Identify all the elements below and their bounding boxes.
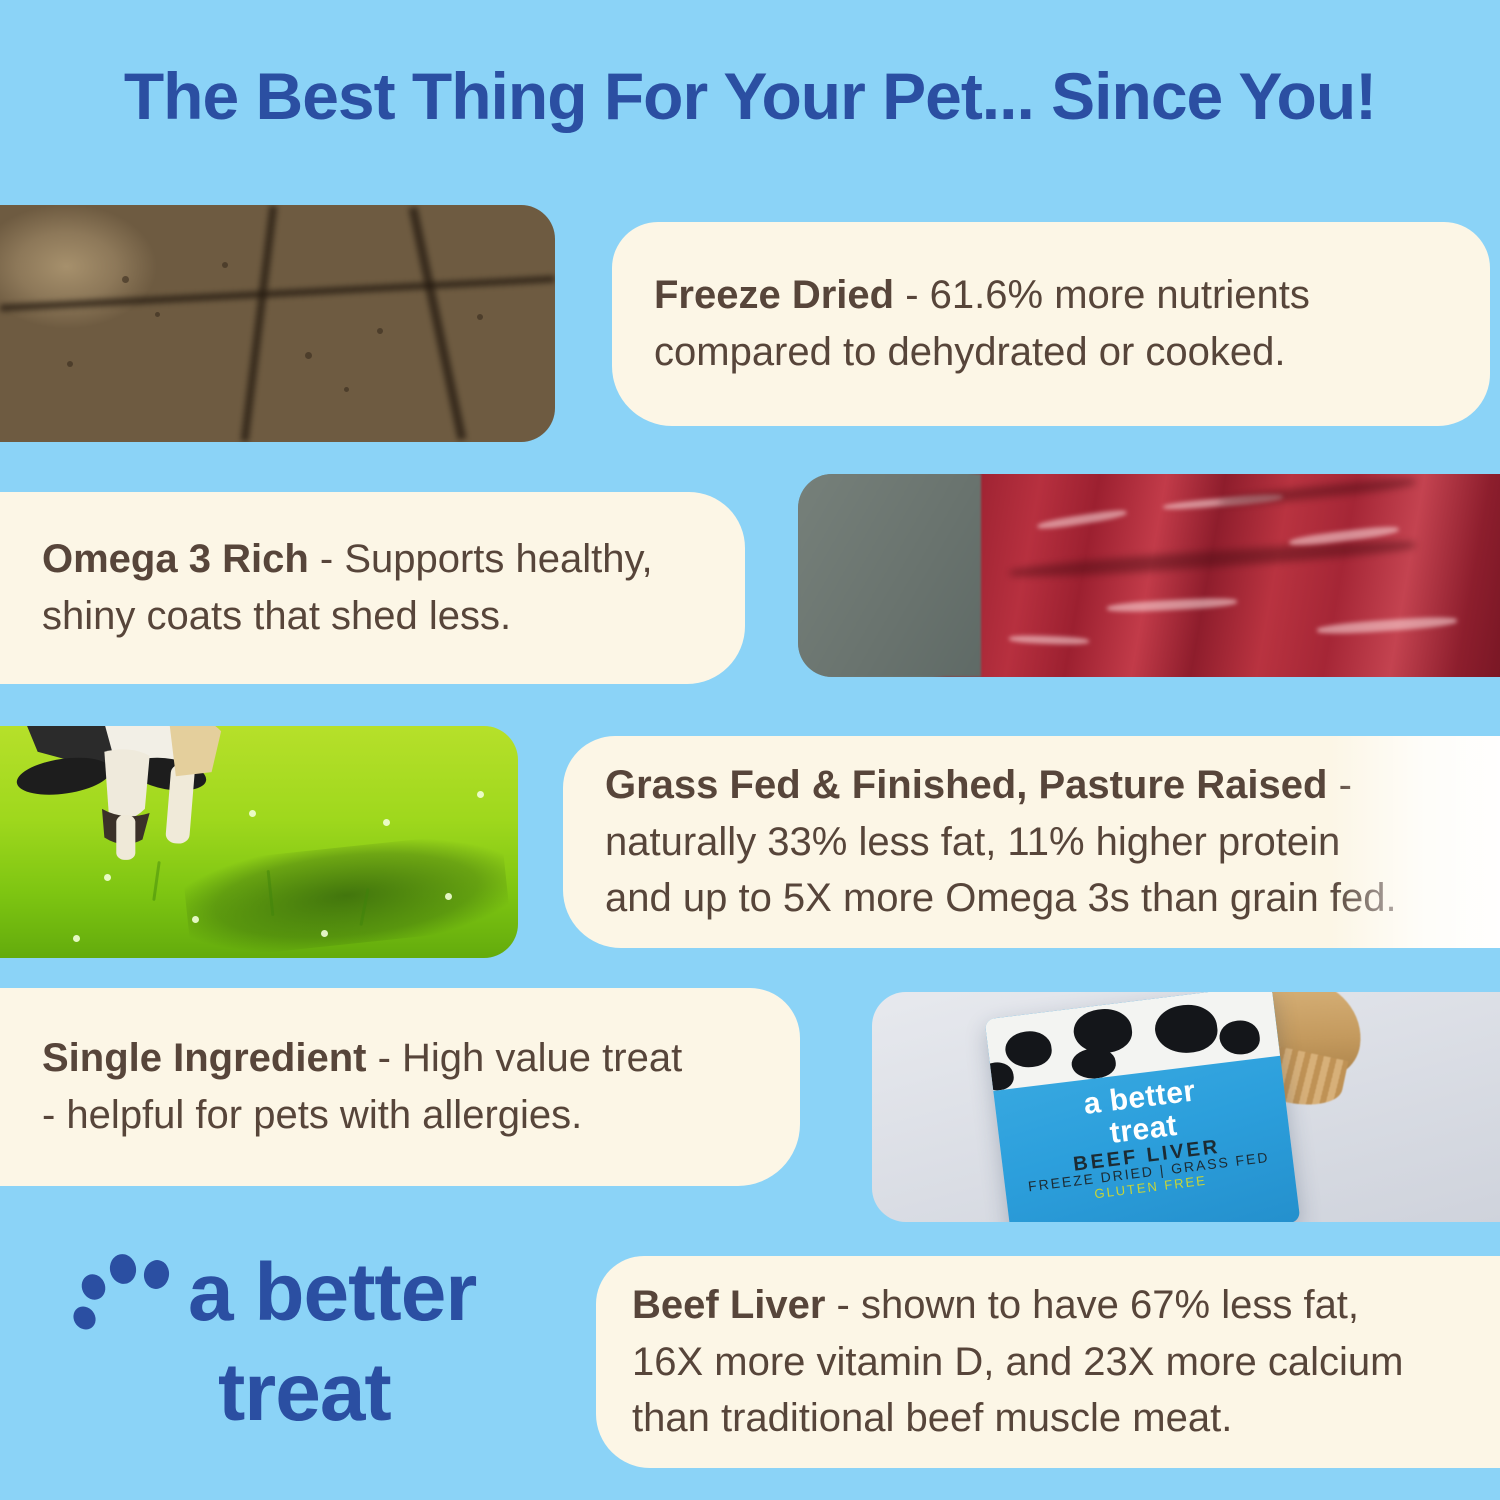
feature-line-1: Single Ingredient - High value treat	[42, 1030, 758, 1087]
paw-print-icon	[60, 1248, 180, 1358]
raw-beef-photo	[798, 474, 1500, 677]
feature-card-grass-fed: Grass Fed & Finished, Pasture Raised - n…	[563, 736, 1500, 948]
feature-heading: Freeze Dried	[654, 273, 894, 317]
cow-illustration	[0, 726, 228, 870]
feature-card-beef-liver: Beef Liver - shown to have 67% less fat,…	[596, 1256, 1500, 1468]
product-package-photo: a better treat BEEF LIVER FREEZE DRIED |…	[872, 992, 1500, 1222]
feature-line-2: 16X more vitamin D, and 23X more calcium	[632, 1334, 1464, 1391]
feature-heading: Grass Fed & Finished, Pasture Raised	[605, 763, 1327, 807]
feature-line-2: shiny coats that shed less.	[42, 588, 703, 645]
feature-line-2: naturally 33% less fat, 11% higher prote…	[605, 814, 1458, 871]
feature-line-2: compared to dehydrated or cooked.	[654, 324, 1448, 381]
feature-heading: Beef Liver	[632, 1283, 825, 1327]
feature-line-1: Grass Fed & Finished, Pasture Raised -	[605, 757, 1458, 814]
feature-line-1: Omega 3 Rich - Supports healthy,	[42, 531, 703, 588]
feature-heading: Omega 3 Rich	[42, 537, 309, 581]
feature-line-3: and up to 5X more Omega 3s than grain fe…	[605, 870, 1458, 927]
product-bag: a better treat BEEF LIVER FREEZE DRIED |…	[984, 992, 1300, 1222]
page-title: The Best Thing For Your Pet... Since You…	[0, 58, 1500, 134]
feature-card-single-ingredient: Single Ingredient - High value treat - h…	[0, 988, 800, 1186]
feature-heading: Single Ingredient	[42, 1036, 366, 1080]
feature-line-2: - helpful for pets with allergies.	[42, 1087, 758, 1144]
brand-line-1: a better	[188, 1252, 476, 1334]
brand-logo: a better treat	[60, 1248, 500, 1458]
brand-letter-a: a	[188, 1247, 233, 1338]
brand-line-2: treat	[218, 1352, 391, 1434]
freeze-dried-liver-cubes-photo	[0, 205, 555, 442]
feature-card-freeze-dried: Freeze Dried - 61.6% more nutrients comp…	[612, 222, 1490, 426]
feature-line-1: Freeze Dried - 61.6% more nutrients	[654, 267, 1448, 324]
feature-card-omega-3-rich: Omega 3 Rich - Supports healthy, shiny c…	[0, 492, 745, 684]
feature-line-3: than traditional beef muscle meat.	[632, 1390, 1464, 1447]
grazing-cow-photo	[0, 726, 518, 958]
feature-line-1: Beef Liver - shown to have 67% less fat,	[632, 1277, 1464, 1334]
